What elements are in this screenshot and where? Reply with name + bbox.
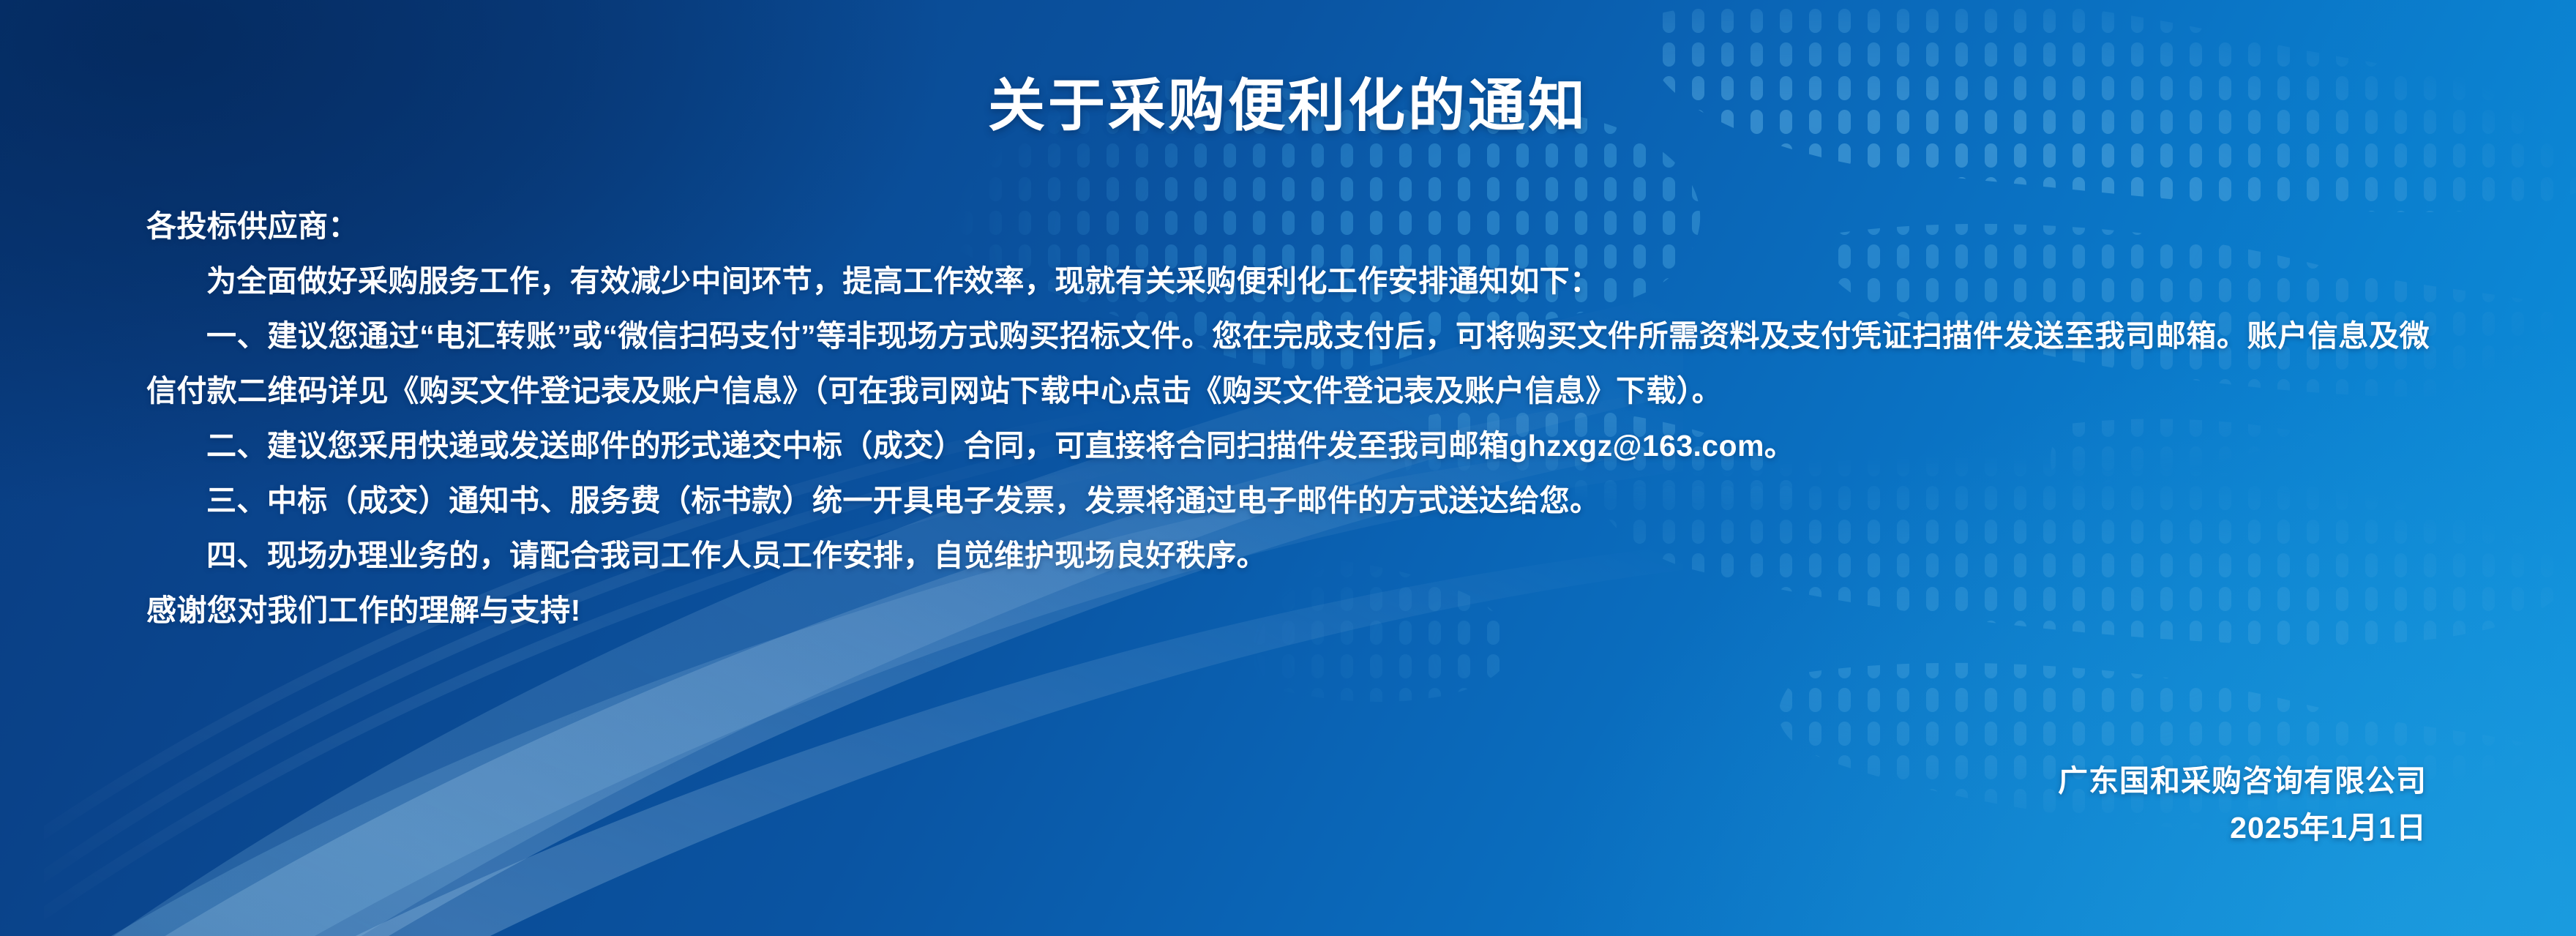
salutation: 各投标供应商： <box>146 199 2430 254</box>
notice-content: 关于采购便利化的通知 各投标供应商： 为全面做好采购服务工作，有效减少中间环节，… <box>0 0 2576 936</box>
notice-item-3: 三、中标（成交）通知书、服务费（标书款）统一开具电子发票，发票将通过电子邮件的方… <box>146 473 2430 528</box>
intro-paragraph: 为全面做好采购服务工作，有效减少中间环节，提高工作效率，现就有关采购便利化工作安… <box>146 254 2430 309</box>
closing-line: 感谢您对我们工作的理解与支持! <box>146 583 2430 638</box>
page-title: 关于采购便利化的通知 <box>0 60 2576 142</box>
signature-date: 2025年1月1日 <box>2058 804 2427 851</box>
notice-banner: 关于采购便利化的通知 各投标供应商： 为全面做好采购服务工作，有效减少中间环节，… <box>0 0 2576 936</box>
notice-item-2: 二、建议您采用快递或发送邮件的形式递交中标（成交）合同，可直接将合同扫描件发至我… <box>146 419 2430 473</box>
notice-item-4: 四、现场办理业务的，请配合我司工作人员工作安排，自觉维护现场良好秩序。 <box>146 528 2430 583</box>
signature-company: 广东国和采购咨询有限公司 <box>2058 757 2427 804</box>
notice-item-1: 一、建议您通过“电汇转账”或“微信扫码支付”等非现场方式购买招标文件。您在完成支… <box>146 309 2430 419</box>
signature-block: 广东国和采购咨询有限公司 2025年1月1日 <box>2058 757 2427 851</box>
notice-body: 各投标供应商： 为全面做好采购服务工作，有效减少中间环节，提高工作效率，现就有关… <box>146 199 2430 638</box>
